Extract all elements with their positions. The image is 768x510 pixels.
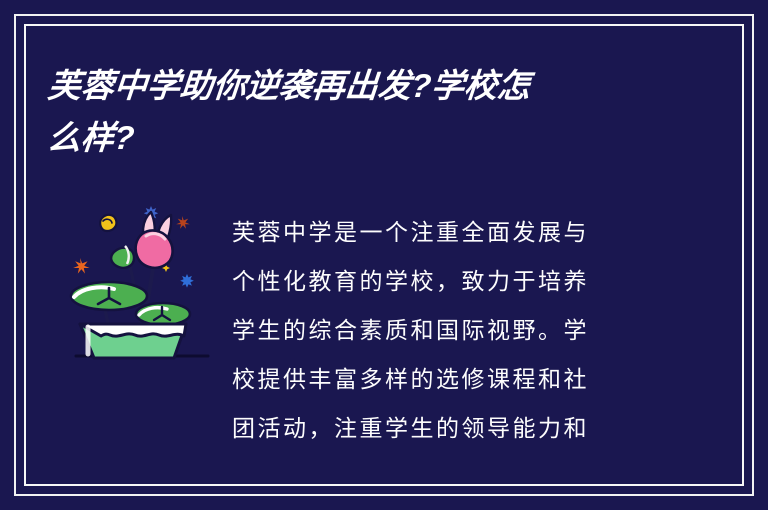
green-bud-leaf	[111, 246, 134, 268]
sparkle-orange-left	[73, 258, 89, 274]
sparkle-orange-right	[176, 216, 190, 229]
body-line-3: 学生的综合素质和国际视野。学	[232, 306, 662, 355]
gold-leaf	[100, 215, 116, 231]
lily-pad-right	[136, 303, 190, 325]
page-title: 芙蓉中学助你逆袭再出发?学校怎 么样?	[48, 60, 708, 164]
potted-lotus-flower-icon	[62, 196, 222, 376]
body-line-5: 团活动，注重学生的领导能力和	[232, 404, 662, 453]
body-line-2: 个性化教育的学校，致力于培养	[232, 257, 662, 306]
lily-pad-left	[71, 282, 147, 310]
sparkle-blue-right	[180, 274, 194, 288]
title-line-1: 芙蓉中学助你逆袭再出发?学校怎	[46, 60, 711, 112]
poster-canvas: 芙蓉中学助你逆袭再出发?学校怎 么样?	[0, 0, 768, 510]
body-line-1: 芙蓉中学是一个注重全面发展与	[232, 208, 662, 257]
flower-pot	[80, 324, 186, 358]
article-body: 芙蓉中学是一个注重全面发展与 个性化教育的学校，致力于培养 学生的综合素质和国际…	[232, 208, 662, 453]
title-line-2: 么样?	[46, 112, 711, 164]
lotus-flower	[136, 212, 173, 268]
body-line-4: 校提供丰富多样的选修课程和社	[232, 355, 662, 404]
